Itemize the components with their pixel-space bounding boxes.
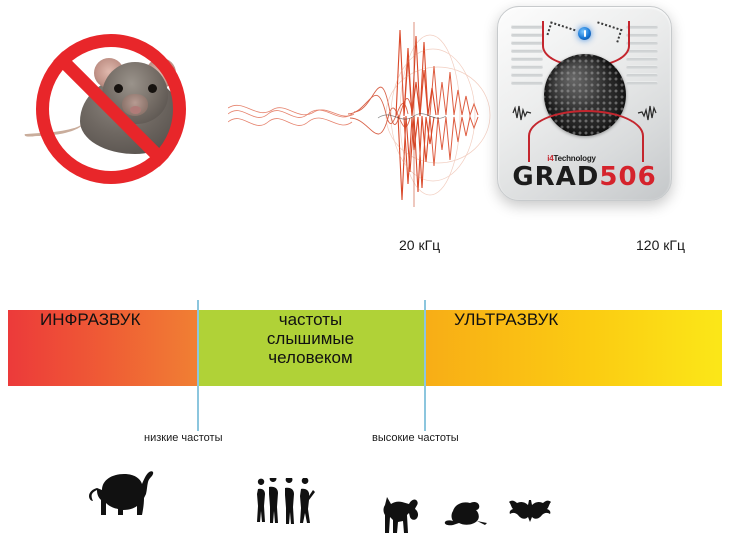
band-infrasound[interactable]: ИНФРАЗВУК [8,310,197,386]
axis-note-low-frequencies: низкие частоты [144,432,222,444]
sound-wave-burst-icon [228,22,498,207]
divider-high-frequency [424,300,426,431]
mouse-silhouette [443,499,489,529]
vent-grille-right [626,25,658,91]
freq-marker-120khz: 120 кГц [636,237,685,253]
power-led-indicator [578,27,591,40]
spectrum-bar: ИНФРАЗВУК частоты слышимые человеком УЛЬ… [8,310,722,386]
freq-marker-20khz: 20 кГц [399,237,440,253]
sound-emission-icon-left [512,105,532,121]
vent-grille-left [511,25,543,91]
device-model-label: GRAD506 [498,164,671,190]
model-number: 506 [599,162,656,192]
band-audible-line-3: человеком [267,348,354,367]
band-ultrasound[interactable]: УЛЬТРАЗВУК [424,310,722,386]
band-audible[interactable]: частоты слышимые человеком [197,310,424,386]
prohibition-slash-icon [36,34,186,184]
band-ultrasound-label: УЛЬТРАЗВУК [424,310,729,329]
axis-note-high-frequencies: высокие частоты [372,432,459,444]
frequency-spectrum-chart: 20 кГц 120 кГц ИНФРАЗВУК частоты слыши [0,225,729,450]
band-audible-label: частоты слышимые человеком [197,310,424,367]
band-infrasound-label: ИНФРАЗВУК [8,310,229,329]
device-branding: i4Technology GRAD506 [498,155,671,190]
dog-silhouette [382,493,422,535]
model-name: GRAD [512,162,599,192]
people-silhouette [253,478,321,528]
divider-low-frequency [197,300,199,431]
bat-silhouette [508,498,554,524]
ultrasonic-repeller-device: i4Technology GRAD506 [497,6,672,201]
sound-emission-icon-right [637,105,657,121]
band-audible-line-1: частоты [267,310,354,329]
no-rats-sign [18,28,228,178]
elephant-silhouette [84,468,156,524]
band-audible-line-2: слышимые [267,329,354,348]
hero-illustration: i4Technology GRAD506 [0,0,729,225]
